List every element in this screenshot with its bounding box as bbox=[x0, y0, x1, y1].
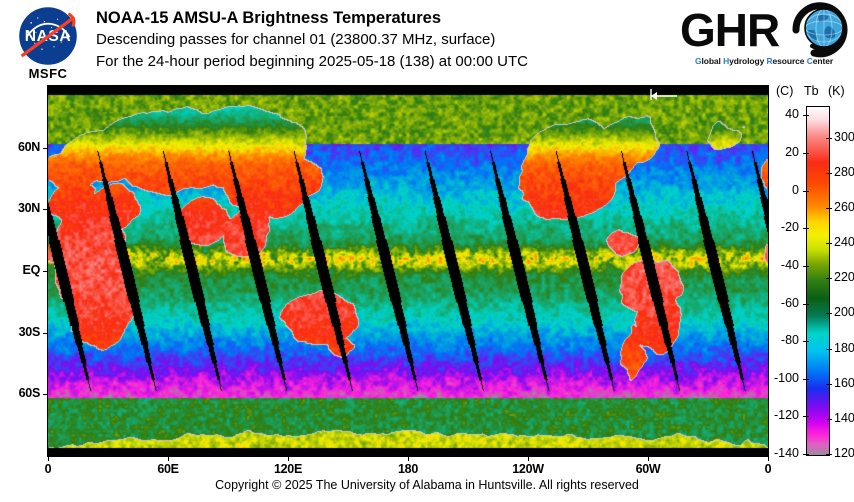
ghrc-tagline: Global Hydrology Resource Center bbox=[680, 56, 848, 66]
colorbar-tick-celsius bbox=[803, 304, 809, 305]
colorbar-header: (C) Tb (K) bbox=[776, 84, 854, 102]
colorbar-tick-kelvin bbox=[826, 173, 832, 174]
lat-label: EQ bbox=[0, 263, 40, 277]
lon-tick bbox=[408, 456, 409, 461]
lon-label: 0 bbox=[745, 462, 791, 476]
colorbar-label-kelvin: 120 bbox=[834, 446, 854, 460]
title-block: NOAA-15 AMSU-A Brightness Temperatures D… bbox=[96, 8, 656, 73]
colorbar-variable: Tb bbox=[804, 84, 819, 98]
colorbar-tick-kelvin bbox=[826, 208, 832, 209]
page-header: NASA MSFC NOAA-15 AMSU-A Brightness Temp… bbox=[0, 0, 854, 86]
lon-tick bbox=[528, 456, 529, 461]
lat-tick bbox=[43, 209, 48, 210]
colorbar-label-kelvin: 180 bbox=[834, 341, 854, 355]
map-panel bbox=[48, 86, 768, 456]
lon-label: 180 bbox=[385, 462, 431, 476]
lon-label: 60E bbox=[145, 462, 191, 476]
colorbar-tick-celsius bbox=[803, 266, 809, 267]
colorbar-tick-kelvin bbox=[826, 278, 832, 279]
colorbar-tick-celsius bbox=[803, 191, 809, 192]
colorbar-unit-celsius: (C) bbox=[776, 84, 793, 98]
colorbar-label-kelvin: 140 bbox=[834, 411, 854, 425]
colorbar-tick-celsius bbox=[803, 416, 809, 417]
lat-tick bbox=[43, 394, 48, 395]
colorbar-gradient bbox=[806, 106, 830, 456]
svg-text:GHR: GHR bbox=[680, 4, 780, 56]
colorbar-label-celsius: -80 bbox=[773, 333, 799, 347]
brightness-temperature-map bbox=[48, 86, 768, 456]
colorbar-tick-celsius bbox=[803, 379, 809, 380]
lon-label: 120E bbox=[265, 462, 311, 476]
colorbar-tick-kelvin bbox=[826, 384, 832, 385]
colorbar-label-kelvin: 220 bbox=[834, 270, 854, 284]
lon-label: 120W bbox=[505, 462, 551, 476]
colorbar-tick-celsius bbox=[803, 341, 809, 342]
colorbar-label-kelvin: 240 bbox=[834, 235, 854, 249]
ghrc-tagline-part: enter bbox=[813, 56, 833, 66]
ghrc-tagline-part: lobal bbox=[701, 56, 723, 66]
colorbar-label-celsius: 40 bbox=[773, 107, 799, 121]
lon-tick bbox=[48, 456, 49, 461]
colorbar-tick-kelvin bbox=[826, 313, 832, 314]
ghrc-logo: GHR Global Hydrology Resource Center bbox=[678, 2, 850, 78]
colorbar-label-celsius: 20 bbox=[773, 145, 799, 159]
ghrc-tagline-part: ydrology bbox=[729, 56, 766, 66]
colorbar-label-kelvin: 280 bbox=[834, 165, 854, 179]
colorbar-panel: (C) Tb (K) 40200-20-40-60-80-100-120-140… bbox=[776, 84, 854, 464]
colorbar-label-celsius: -60 bbox=[773, 296, 799, 310]
lon-tick bbox=[168, 456, 169, 461]
colorbar-label-celsius: -100 bbox=[773, 371, 799, 385]
nasa-logo: NASA MSFC bbox=[8, 4, 88, 84]
colorbar-label-kelvin: 260 bbox=[834, 200, 854, 214]
nasa-meatball-icon: NASA bbox=[18, 6, 78, 66]
colorbar-tick-kelvin bbox=[826, 138, 832, 139]
colorbar-tick-celsius bbox=[803, 228, 809, 229]
lon-label: 0 bbox=[25, 462, 71, 476]
colorbar-tick-celsius bbox=[803, 454, 809, 455]
copyright-notice: Copyright © 2025 The University of Alaba… bbox=[0, 478, 854, 492]
title-subtitle-period: For the 24-hour period beginning 2025-05… bbox=[96, 51, 656, 73]
colorbar-label-celsius: -140 bbox=[773, 446, 799, 460]
lat-label: 30N bbox=[0, 201, 40, 215]
colorbar-label-celsius: -120 bbox=[773, 408, 799, 422]
lon-tick bbox=[288, 456, 289, 461]
lat-label: 60S bbox=[0, 386, 40, 400]
colorbar-unit-kelvin: (K) bbox=[828, 84, 845, 98]
ghrc-wordmark-icon: GHR bbox=[678, 2, 850, 58]
lon-label: 60W bbox=[625, 462, 671, 476]
colorbar-label-kelvin: 200 bbox=[834, 305, 854, 319]
lat-label: 60N bbox=[0, 140, 40, 154]
title-subtitle-channel: Descending passes for channel 01 (23800.… bbox=[96, 29, 656, 51]
lon-tick bbox=[768, 456, 769, 461]
lat-tick bbox=[43, 333, 48, 334]
lon-tick bbox=[648, 456, 649, 461]
page-title: NOAA-15 AMSU-A Brightness Temperatures bbox=[96, 8, 656, 29]
lat-tick bbox=[43, 271, 48, 272]
colorbar-tick-kelvin bbox=[826, 419, 832, 420]
colorbar-label-kelvin: 300 bbox=[834, 130, 854, 144]
colorbar-tick-kelvin bbox=[826, 243, 832, 244]
colorbar-tick-kelvin bbox=[826, 349, 832, 350]
lat-label: 30S bbox=[0, 325, 40, 339]
colorbar-tick-celsius bbox=[803, 153, 809, 154]
ghrc-tagline-part: esource bbox=[773, 56, 807, 66]
colorbar-label-kelvin: 160 bbox=[834, 376, 854, 390]
colorbar-label-celsius: 0 bbox=[773, 183, 799, 197]
colorbar-label-celsius: -40 bbox=[773, 258, 799, 272]
colorbar-tick-kelvin bbox=[826, 454, 832, 455]
colorbar-label-celsius: -20 bbox=[773, 220, 799, 234]
nasa-center-label: MSFC bbox=[8, 66, 88, 81]
lat-tick bbox=[43, 148, 48, 149]
colorbar-tick-celsius bbox=[803, 115, 809, 116]
